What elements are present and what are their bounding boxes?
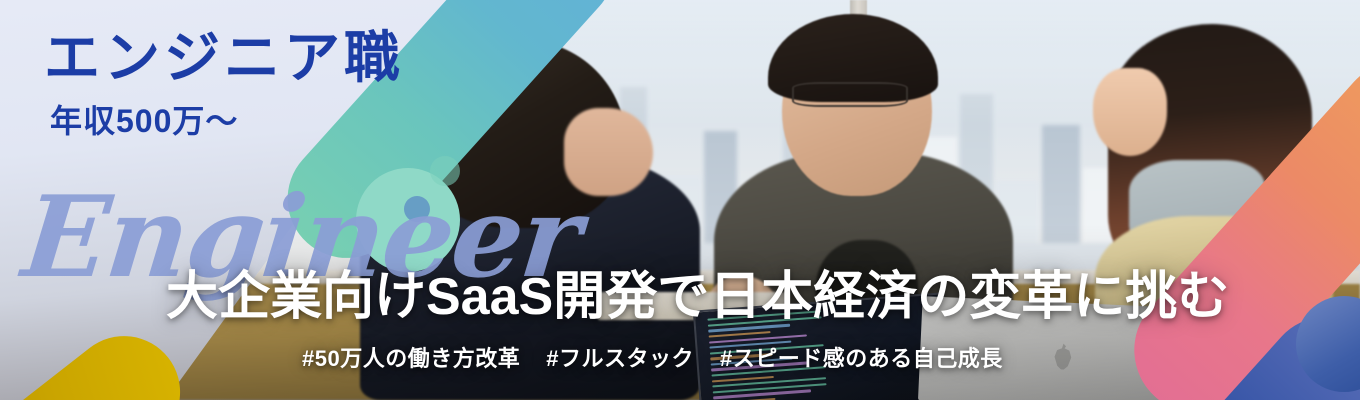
salary-label: 年収500万〜: [50, 105, 238, 137]
hashtag-list: #50万人の働き方改革#フルスタック#スピード感のある自己成長: [302, 348, 1003, 370]
job-category-title: エンジニア職: [44, 30, 404, 86]
hashtag-item: #スピード感のある自己成長: [720, 346, 1003, 371]
recruitment-banner: Engineer エンジニア職 年収500万〜 大企業向けSaaS開発で日本経済…: [0, 0, 1360, 400]
hashtag-item: #フルスタック: [546, 346, 694, 371]
gold-diagonal-bar: [0, 314, 203, 400]
page-title: 大企業向けSaaS開発で日本経済の変革に挑む: [166, 270, 1229, 325]
hashtag-item: #50万人の働き方改革: [302, 346, 520, 371]
